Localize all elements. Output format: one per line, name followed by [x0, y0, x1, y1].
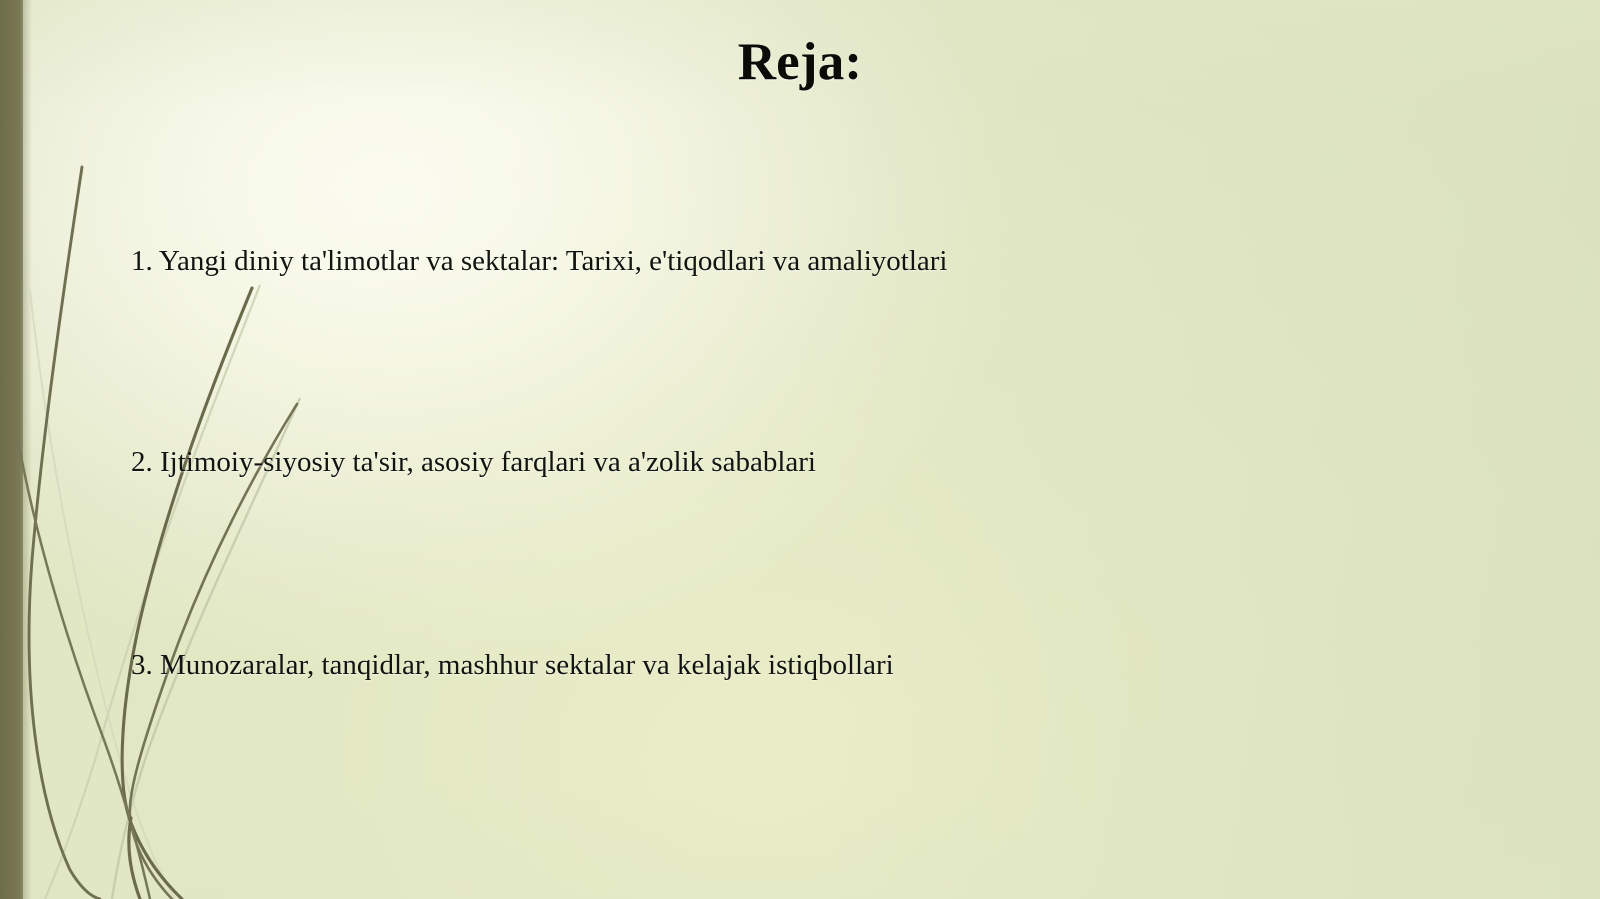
agenda-item-3: 3. Munozaralar, tanqidlar, mashhur sekta…	[131, 648, 894, 683]
agenda-item-1: 1. Yangi diniy ta'limotlar va sektalar: …	[131, 244, 947, 279]
slide-title: Reja:	[0, 32, 1600, 92]
agenda-item-2: 2. Ijtimoiy-siyosiy ta'sir, asosiy farql…	[131, 445, 816, 480]
olive-border-shadow	[23, 0, 32, 899]
presentation-slide: Reja: 1. Yangi diniy ta'limotlar va sekt…	[0, 0, 1600, 899]
olive-border-strip	[0, 0, 23, 899]
